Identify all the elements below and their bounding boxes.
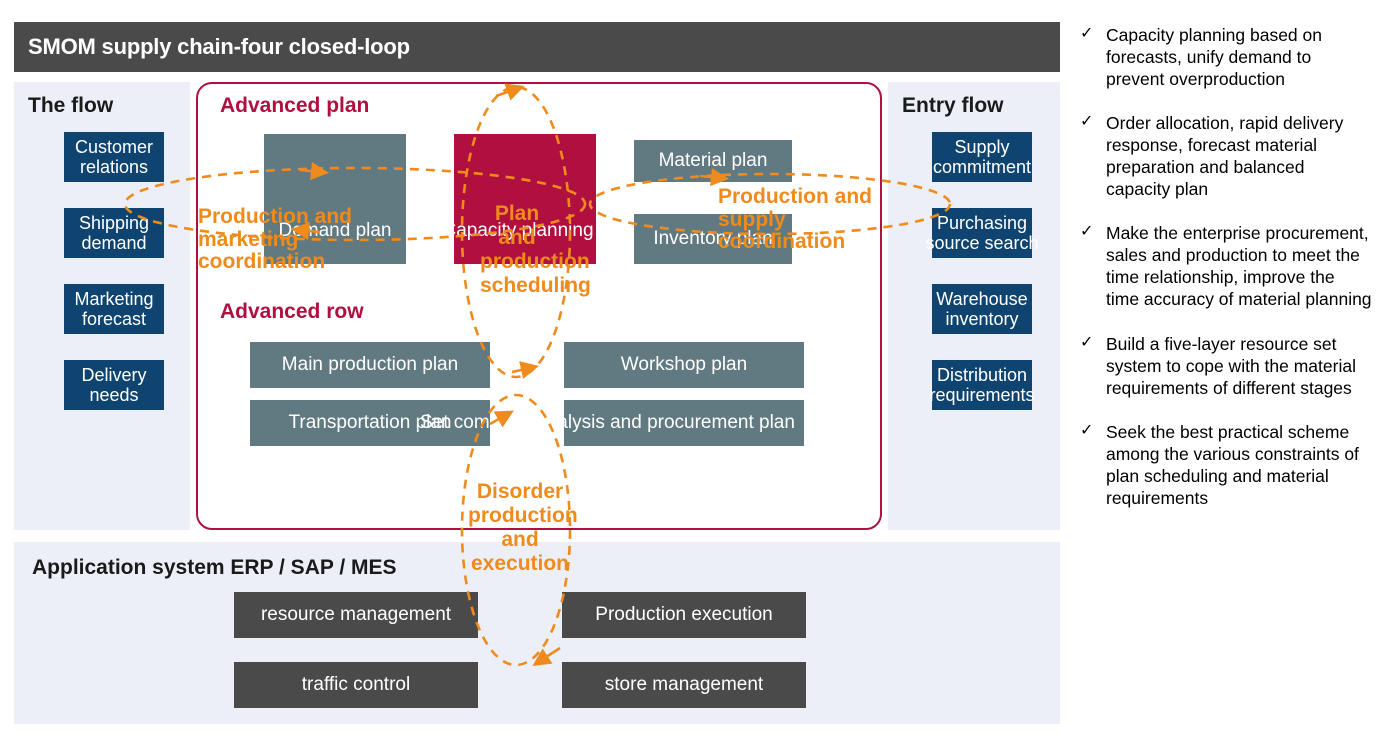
- slide-canvas: SMOM supply chain-four closed-loop The f…: [0, 0, 1380, 750]
- annotation-top-loop: Plan and production scheduling: [480, 202, 554, 298]
- bullet-list: ✓ Capacity planning based on forecasts, …: [1080, 24, 1372, 531]
- check-icon: ✓: [1080, 222, 1106, 310]
- bottom-loop-arrowhead2: [490, 415, 506, 424]
- check-icon: ✓: [1080, 24, 1106, 90]
- list-item: ✓ Seek the best practical scheme among t…: [1080, 421, 1372, 509]
- list-item: ✓ Order allocation, rapid delivery respo…: [1080, 112, 1372, 200]
- bottom-loop-arrowhead: [540, 648, 560, 661]
- check-icon: ✓: [1080, 333, 1106, 399]
- left-loop-arrowhead: [300, 170, 320, 172]
- check-icon: ✓: [1080, 112, 1106, 200]
- list-item-text: Capacity planning based on forecasts, un…: [1106, 24, 1372, 90]
- annotation-right-loop: Production and supply coordination: [718, 186, 894, 254]
- list-item-text: Build a five-layer resource set system t…: [1106, 333, 1372, 399]
- list-item-text: Seek the best practical scheme among the…: [1106, 421, 1372, 509]
- list-item: ✓ Build a five-layer resource set system…: [1080, 333, 1372, 399]
- list-item-text: Order allocation, rapid delivery respons…: [1106, 112, 1372, 200]
- list-item: ✓ Make the enterprise procurement, sales…: [1080, 222, 1372, 310]
- annotation-left-loop: Production and marketing coordination: [198, 206, 388, 274]
- top-loop-arrowhead2: [512, 368, 530, 372]
- check-icon: ✓: [1080, 421, 1106, 509]
- list-item-text: Make the enterprise procurement, sales a…: [1106, 222, 1372, 310]
- right-loop-arrowhead: [700, 176, 720, 178]
- list-item: ✓ Capacity planning based on forecasts, …: [1080, 24, 1372, 90]
- annotation-bottom-loop: Disorder production and execution: [468, 480, 572, 576]
